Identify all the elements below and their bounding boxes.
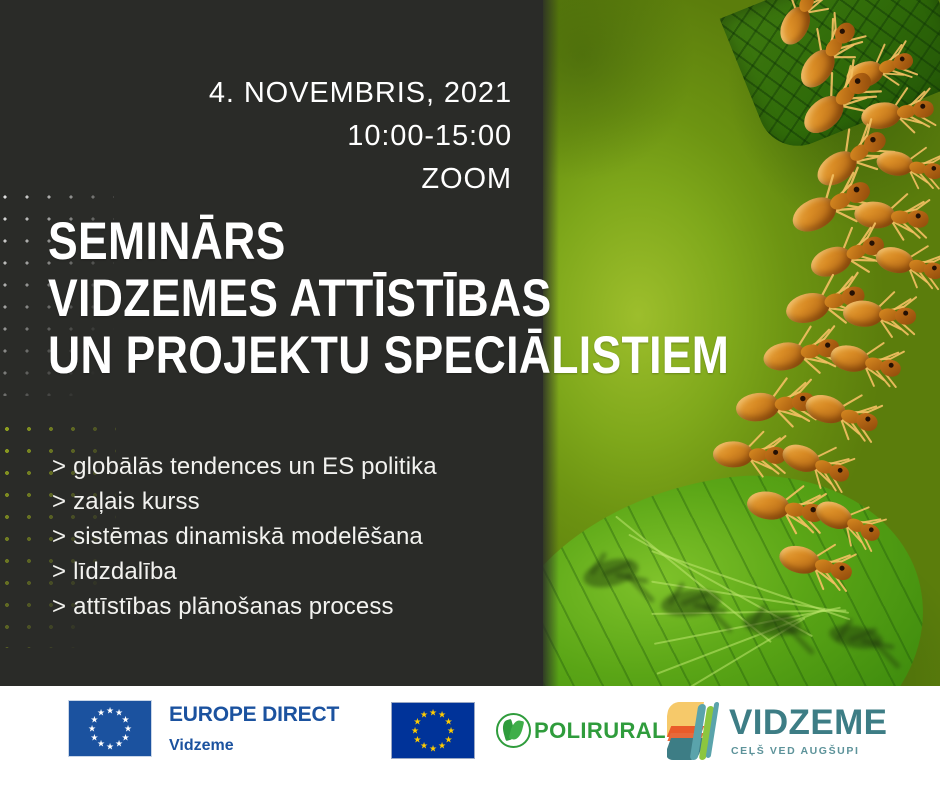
- agenda-item-label: zaļais kurss: [73, 488, 200, 515]
- ant-abdomen: [735, 391, 781, 423]
- vidzeme-title: VIDZEME: [729, 705, 887, 741]
- page-title: SEMINĀRS VIDZEMES ATTĪSTĪBAS UN PROJEKTU…: [48, 213, 787, 384]
- agenda-item: >sistēmas dinamiskā modelēšana: [52, 519, 437, 554]
- eu-star-icon: ★: [90, 733, 98, 742]
- ant: [775, 537, 861, 592]
- logo-eu-flag: ★★★★★★★★★★★★: [391, 702, 475, 759]
- eu-star-icon: ★: [97, 708, 105, 717]
- logo-vidzeme: VIDZEME CEĻŠ VED AUGŠUPI: [667, 700, 887, 762]
- eu-star-icon: ★: [88, 724, 96, 733]
- agenda-item: >zaļais kurss: [52, 484, 437, 519]
- poster: 4. NOVEMBRIS, 2021 10:00-15:00 ZOOM SEMI…: [0, 0, 940, 788]
- event-time: 10:00-15:00: [0, 115, 512, 158]
- ant: [810, 493, 890, 554]
- ant-head: [906, 209, 929, 228]
- logo-europe-direct: ★★★★★★★★★★★★ EUROPE DIRECT Vidzeme: [68, 700, 339, 757]
- vidzeme-text: VIDZEME CEĻŠ VED AUGŠUPI: [729, 705, 887, 758]
- agenda-item: >līdzdalība: [52, 554, 437, 589]
- agenda-item: >attīstības plānošanas process: [52, 589, 437, 624]
- vidzeme-mark-icon: [667, 700, 719, 762]
- poster-canvas: 4. NOVEMBRIS, 2021 10:00-15:00 ZOOM SEMI…: [0, 0, 940, 686]
- headline-line-2: VIDZEMES ATTĪSTĪBAS: [48, 270, 787, 327]
- polirural-title: POLIRURAL: [534, 718, 666, 744]
- event-meta: 4. NOVEMBRIS, 2021 10:00-15:00 ZOOM: [0, 72, 512, 201]
- ant: [827, 338, 909, 389]
- vidzeme-tagline: CEĻŠ VED AUGŠUPI: [731, 745, 887, 758]
- ant: [801, 386, 887, 444]
- ant: [872, 239, 940, 290]
- ant: [777, 436, 859, 494]
- agenda-item: >globālās tendences un ES politika: [52, 449, 437, 484]
- headline-line-1: SEMINĀRS: [48, 213, 787, 270]
- eu-star-icon: ★: [411, 726, 419, 735]
- agenda-bullet-marker: >: [52, 523, 66, 550]
- ant: [842, 295, 922, 334]
- europe-direct-title: EUROPE DIRECT: [169, 703, 339, 727]
- agenda-item-label: attīstības plānošanas process: [73, 593, 393, 620]
- leaf-circle-icon: [496, 713, 531, 748]
- eu-star-icon: ★: [438, 742, 446, 751]
- ant: [874, 144, 940, 190]
- eu-star-icon: ★: [106, 742, 114, 751]
- agenda-list: >globālās tendences un ES politika>zaļai…: [52, 449, 437, 624]
- agenda-bullet-marker: >: [52, 558, 66, 585]
- eu-stars: ★★★★★★★★★★★★: [85, 704, 135, 754]
- headline-line-3: UN PROJEKTU SPECIĀLISTIEM: [48, 327, 787, 384]
- eu-star-icon: ★: [429, 744, 437, 753]
- ant-abdomen: [783, 289, 833, 327]
- eu-star-icon: ★: [413, 735, 421, 744]
- event-platform: ZOOM: [0, 158, 512, 201]
- logo-polirural: POLIRURAL: [496, 713, 666, 748]
- agenda-bullet-marker: >: [52, 488, 66, 515]
- eu-star-icon: ★: [106, 706, 114, 715]
- europe-direct-text: EUROPE DIRECT Vidzeme: [169, 703, 339, 755]
- eu-flag-icon: ★★★★★★★★★★★★: [391, 702, 475, 759]
- ant-abdomen: [842, 299, 884, 328]
- ant: [712, 437, 791, 474]
- eu-flag-icon: ★★★★★★★★★★★★: [68, 700, 152, 757]
- eu-star-icon: ★: [429, 708, 437, 717]
- agenda-bullet-marker: >: [52, 593, 66, 620]
- agenda-item-label: sistēmas dinamiskā modelēšana: [73, 523, 423, 550]
- ant-head: [912, 99, 935, 119]
- agenda-item-label: globālās tendences un ES politika: [73, 453, 437, 480]
- eu-stars: ★★★★★★★★★★★★: [408, 706, 458, 756]
- eu-star-icon: ★: [115, 740, 123, 749]
- event-date: 4. NOVEMBRIS, 2021: [0, 72, 512, 115]
- agenda-item-label: līdzdalība: [73, 558, 177, 585]
- partner-logo-bar: ★★★★★★★★★★★★ EUROPE DIRECT Vidzeme ★★★★★…: [0, 686, 940, 788]
- ant-abdomen: [713, 441, 754, 468]
- eu-star-icon: ★: [420, 710, 428, 719]
- europe-direct-subtitle: Vidzeme: [169, 736, 339, 755]
- agenda-bullet-marker: >: [52, 453, 66, 480]
